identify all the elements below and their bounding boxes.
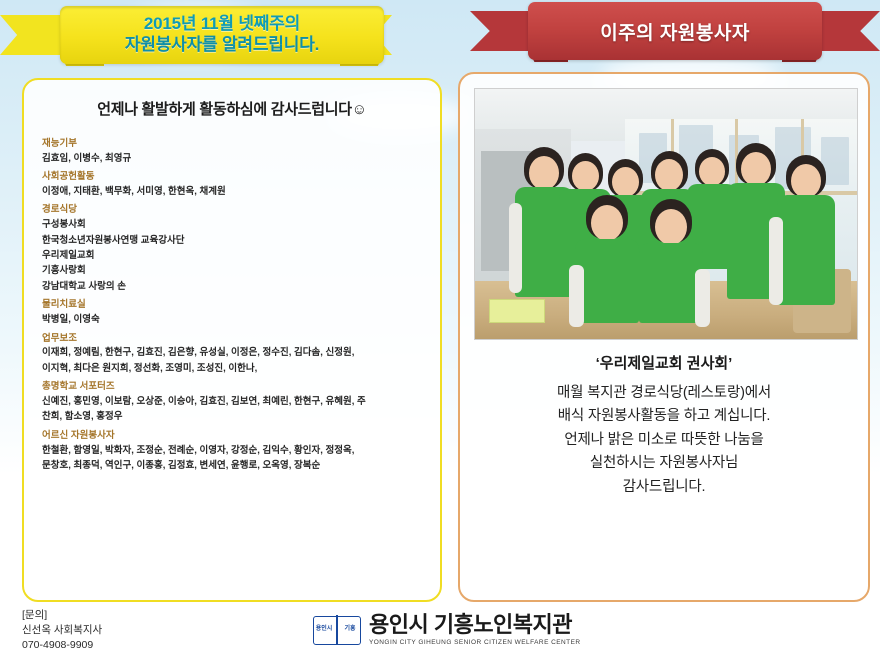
ribbon-center-panel: 2015년 11월 넷째주의 자원봉사자를 알려드립니다. — [60, 6, 384, 64]
ribbon-tail-left — [0, 15, 66, 55]
logo-organization-name: 용인시 기흥노인복지관 — [369, 614, 581, 636]
volunteer-names-line: 신예진, 홍민영, 이보람, 오상준, 이승아, 김효진, 김보연, 최예린, … — [42, 395, 426, 409]
volunteer-names-line: 우리제일교회 — [42, 249, 426, 263]
photo-table-box — [489, 299, 545, 323]
volunteer-group-photo — [474, 88, 858, 340]
logo-book-left-text: 용인시 — [313, 623, 335, 632]
volunteer-names-line: 김효임, 이병수, 최영규 — [42, 152, 426, 166]
volunteer-names-line: 이지혁, 최다은 원지희, 정선화, 조영미, 조성진, 이한나, — [42, 362, 426, 376]
volunteer-names-line: 이정애, 지태환, 백무화, 서미영, 한현옥, 채계원 — [42, 185, 426, 199]
volunteer-category-label: 사회공헌활동 — [42, 170, 426, 184]
logo-organization-english: YONGIN CITY GIHEUNG SENIOR CITIZEN WELFA… — [369, 639, 581, 646]
poster-canvas: 2015년 11월 넷째주의 자원봉사자를 알려드립니다. 이주의 자원봉사자 … — [0, 0, 880, 660]
left-banner-title: 2015년 11월 넷째주의 자원봉사자를 알려드립니다. — [125, 14, 319, 55]
caption-line: 실천하시는 자원봉사자님 — [474, 452, 854, 475]
contact-name: 신선옥 사회복지사 — [22, 623, 102, 638]
volunteer-names-line: 구성봉사회 — [42, 218, 426, 232]
volunteer-names-line: 이재희, 정예림, 한현구, 김효진, 김은향, 유성실, 이정은, 정수진, … — [42, 346, 426, 360]
volunteer-category-label: 총명학교 서포터즈 — [42, 380, 426, 394]
volunteer-category-label: 재능기부 — [42, 137, 426, 151]
photo-person — [775, 155, 837, 305]
open-book-icon: 용인시 기흥 — [312, 614, 362, 646]
photo-person — [637, 199, 705, 323]
volunteer-category-label: 어르신 자원봉사자 — [42, 429, 426, 443]
ribbon-tail-right — [814, 11, 880, 51]
footer-contact: [문의] 신선옥 사회복지사 070-4908-9909 — [22, 608, 102, 653]
caption-title: ‘우리제일교회 권사회’ — [474, 352, 854, 373]
volunteer-category-label: 업무보조 — [42, 332, 426, 346]
volunteer-list-panel: 언제나 활발하게 활동하심에 감사드럽니다☺ 재능기부김효임, 이병수, 최영규… — [22, 78, 442, 602]
contact-label: [문의] — [22, 608, 102, 623]
volunteer-category-label: 경로식당 — [42, 203, 426, 217]
volunteer-sections: 재능기부김효임, 이병수, 최영규사회공헌활동이정애, 지태환, 백무화, 서미… — [38, 137, 426, 473]
left-banner-line1: 2015년 11월 넷째주의 — [125, 14, 319, 35]
featured-volunteer-panel: ‘우리제일교회 권사회’ 매월 복지관 경로식당(레스토랑)에서배식 자원봉사활… — [458, 72, 870, 602]
photo-caption: ‘우리제일교회 권사회’ 매월 복지관 경로식당(레스토랑)에서배식 자원봉사활… — [474, 352, 854, 499]
caption-body: 매월 복지관 경로식당(레스토랑)에서배식 자원봉사활동을 하고 계십니다.언제… — [474, 382, 854, 499]
ribbon-center-panel: 이주의 자원봉사자 — [528, 2, 822, 60]
organization-logo: 용인시 기흥 용인시 기흥노인복지관 YONGIN CITY GIHEUNG S… — [312, 614, 581, 646]
volunteer-names-line: 문창호, 최종덕, 역인구, 이종홍, 김정효, 변세연, 윤행로, 오옥영, … — [42, 459, 426, 473]
caption-line: 언제나 밝은 미소로 따뜻한 나눔을 — [474, 429, 854, 452]
left-ribbon-banner: 2015년 11월 넷째주의 자원봉사자를 알려드립니다. — [0, 6, 440, 64]
ribbon-tail-left — [470, 11, 536, 51]
right-banner-title: 이주의 자원봉사자 — [600, 18, 750, 45]
left-banner-line2: 자원봉사자를 알려드립니다. — [125, 35, 319, 56]
volunteer-names-line: 찬희, 함소영, 홍정우 — [42, 410, 426, 424]
caption-line: 감사드립니다. — [474, 476, 854, 499]
logo-book-right-text: 기흥 — [339, 623, 361, 632]
caption-line: 배식 자원봉사활동을 하고 계십니다. — [474, 405, 854, 428]
photo-person — [573, 195, 641, 323]
volunteer-names-line: 박병일, 이영숙 — [42, 313, 426, 327]
panel-heading: 언제나 활발하게 활동하심에 감사드럽니다☺ — [38, 98, 426, 119]
contact-phone: 070-4908-9909 — [22, 638, 102, 653]
volunteer-names-line: 기흥사랑회 — [42, 264, 426, 278]
volunteer-names-line: 강남대학교 사랑의 손 — [42, 280, 426, 294]
right-ribbon-banner: 이주의 자원봉사자 — [470, 2, 880, 60]
volunteer-category-label: 물리치료실 — [42, 298, 426, 312]
caption-line: 매월 복지관 경로식당(레스토랑)에서 — [474, 382, 854, 405]
volunteer-names-line: 한국청소년자원봉사연맹 교육강사단 — [42, 234, 426, 248]
volunteer-names-line: 한철환, 함영일, 박화자, 조정순, 전례순, 이영자, 강정순, 김익수, … — [42, 444, 426, 458]
